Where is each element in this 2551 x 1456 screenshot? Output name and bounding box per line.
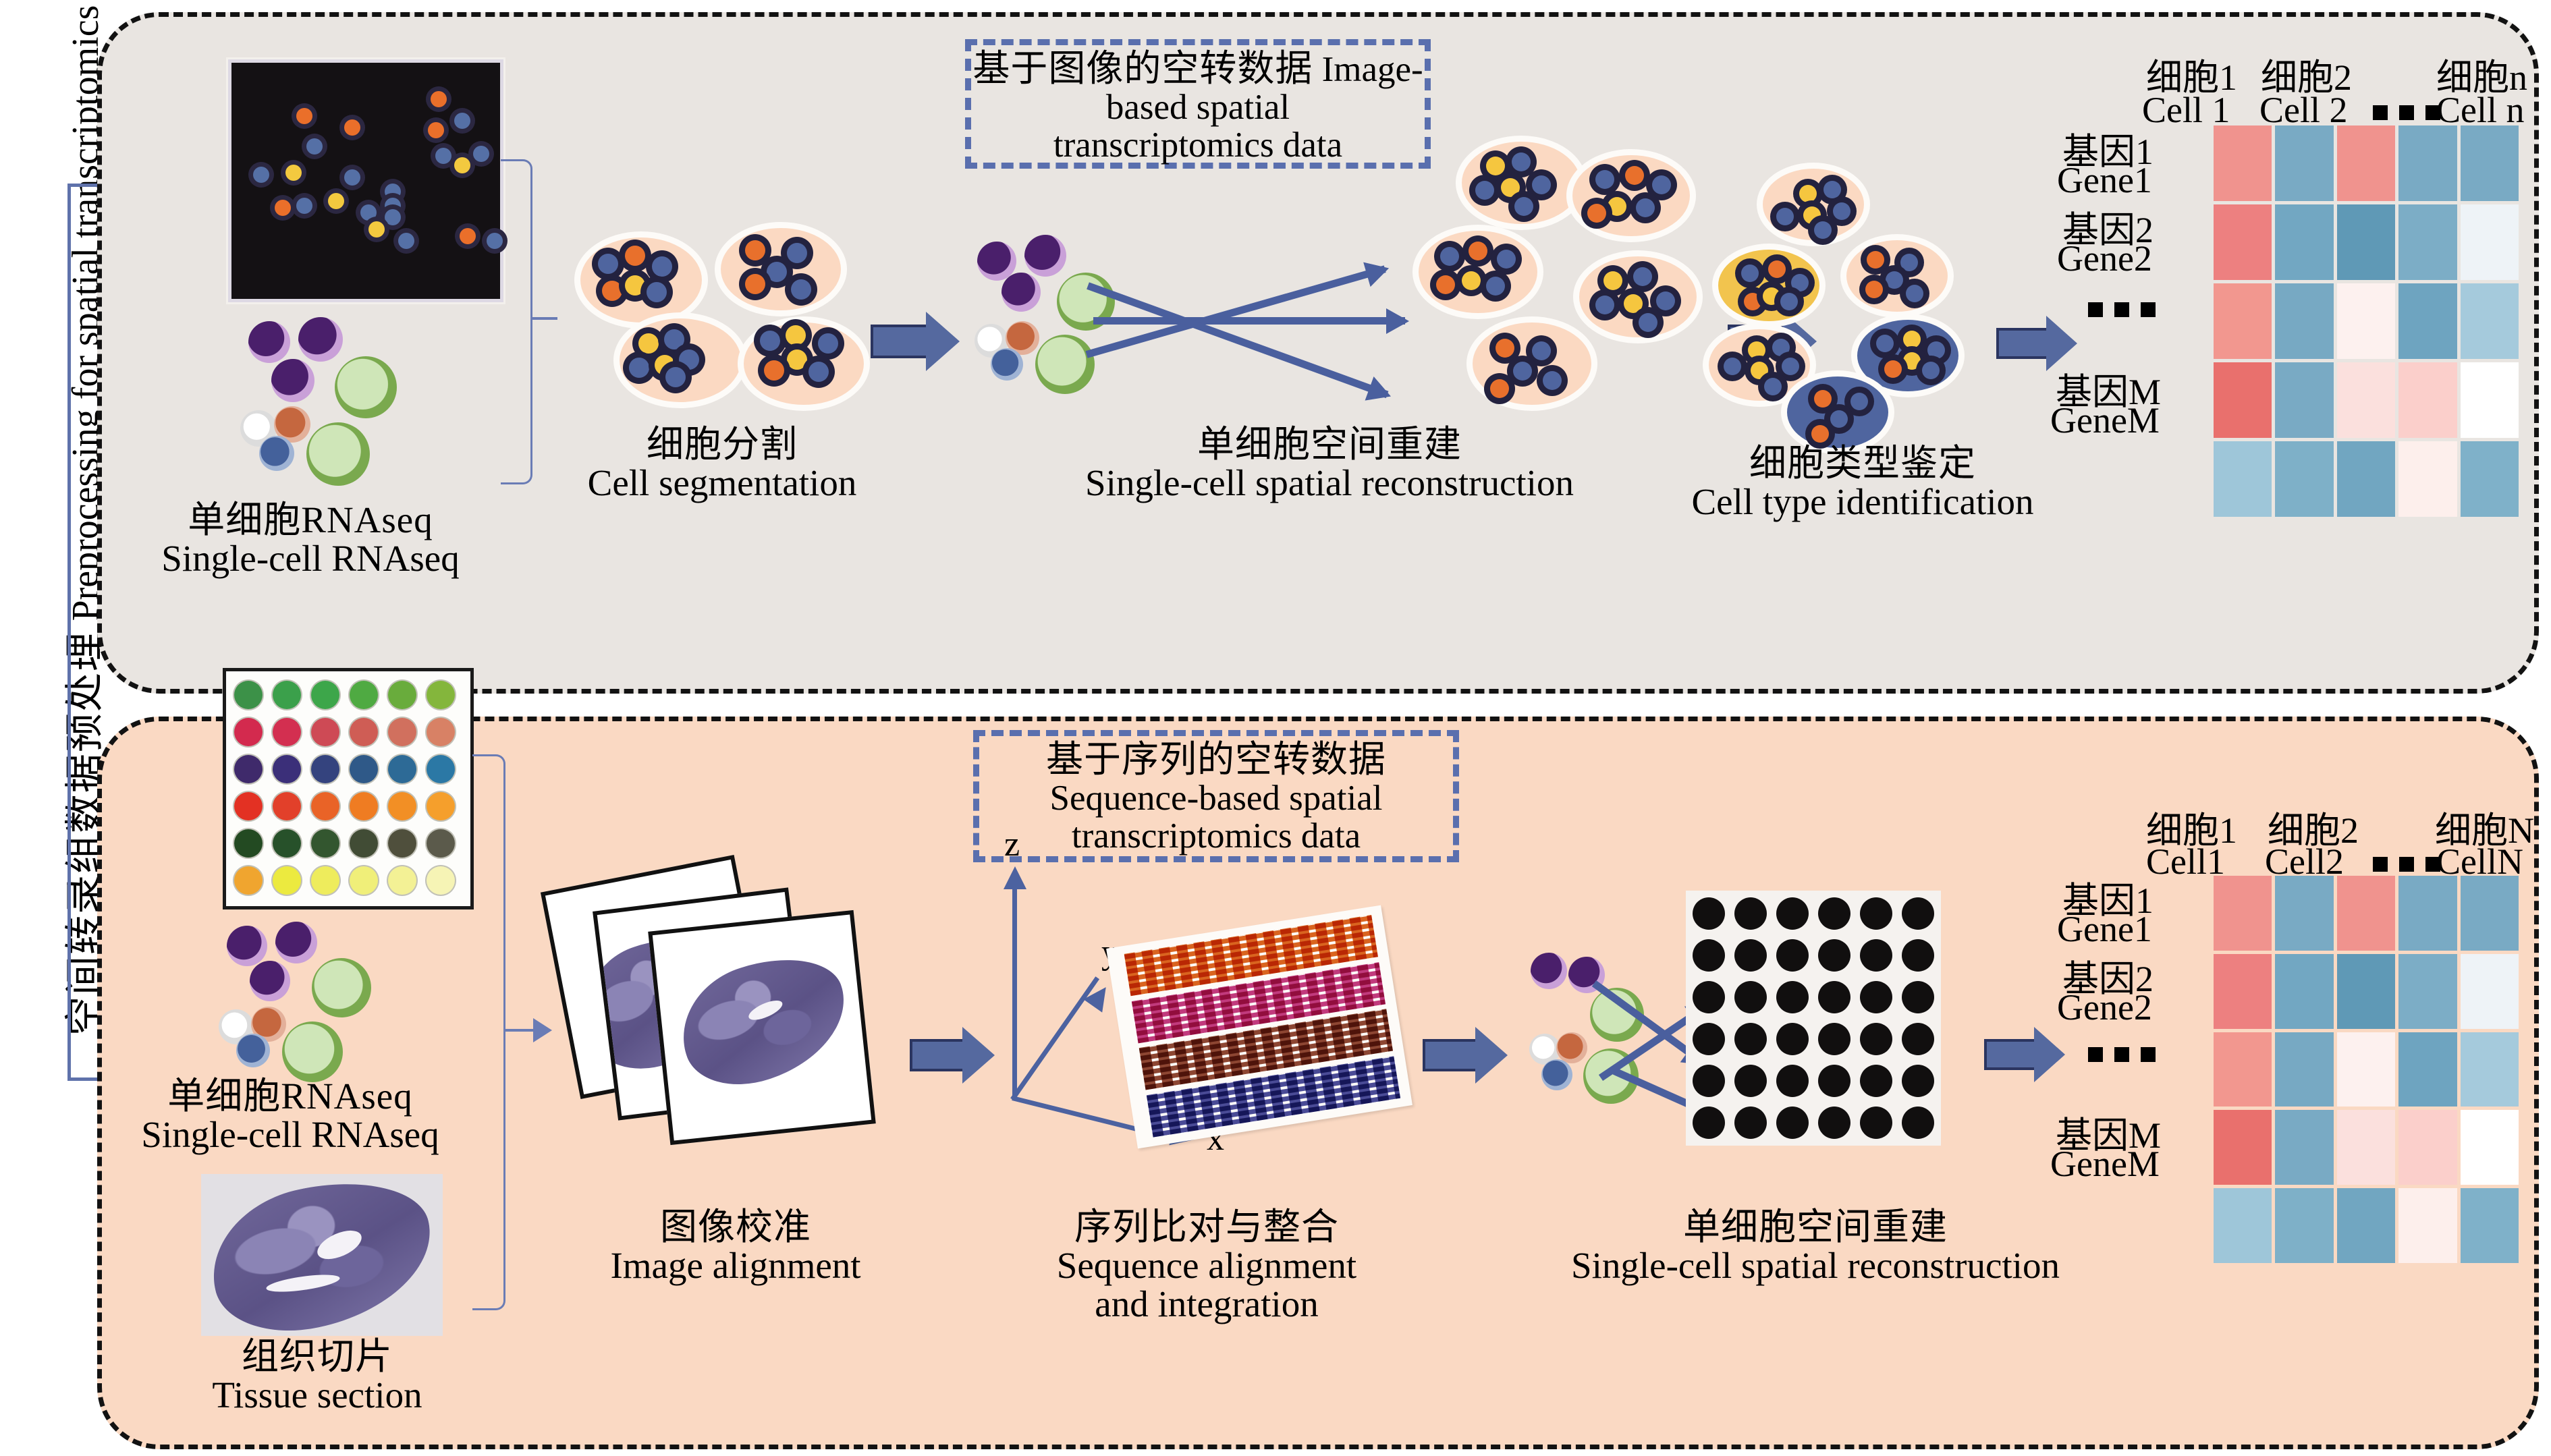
heatmap-bottom-cell-3-1 xyxy=(2275,1110,2333,1185)
capture-spot xyxy=(1776,1023,1809,1055)
capture-spot xyxy=(1818,1065,1850,1097)
flow-arrow-bottom-2 xyxy=(1423,1027,1508,1084)
fluorescence-dot xyxy=(344,119,360,136)
heatmap-top-cell-1-0 xyxy=(2214,204,2272,280)
capture-spot xyxy=(1776,1065,1809,1097)
flow-arrow-top-1 xyxy=(871,312,960,371)
heatmap-bottom-cell-0-3 xyxy=(2398,876,2457,951)
heatmap-top-col-en-2: Cell n xyxy=(2436,89,2525,131)
heatmap-bottom-row-headers: 基因1 Gene1 基因2 Gene2 基因M GeneM xyxy=(2031,870,2207,1275)
heatmap-top-cell-3-3 xyxy=(2398,362,2457,438)
capture-spot xyxy=(1902,939,1934,972)
heatmap-top-cell-0-2 xyxy=(2337,125,2395,201)
step-bottom-1-en1: Sequence alignment xyxy=(997,1246,1416,1285)
capture-spot xyxy=(1693,981,1725,1013)
fluorescence-dot xyxy=(328,193,344,209)
reconstruction-arrow-mid xyxy=(1093,317,1405,325)
scrnaseq-bottom-cn: 单细胞RNAseq xyxy=(101,1077,479,1115)
heatmap-bottom-cell-3-2 xyxy=(2337,1110,2395,1185)
callout-bottom-cn: 基于序列的空转数据 xyxy=(1046,739,1386,780)
heatmap-top-cell-3-2 xyxy=(2337,362,2395,438)
heatmap-top-cell-1-2 xyxy=(2337,204,2395,280)
scrnaseq-top-en: Single-cell RNAseq xyxy=(121,539,499,578)
heatmap-top-cell-2-4 xyxy=(2461,283,2519,359)
heatmap-top-cell-4-0 xyxy=(2214,441,2272,517)
fluorescence-dot xyxy=(385,184,401,200)
fluorescence-dot xyxy=(431,91,447,107)
heatmap-top-row-en-0: Gene1 xyxy=(2057,159,2152,201)
heatmap-bottom-cell-2-1 xyxy=(2275,1032,2333,1107)
capture-spot xyxy=(1776,981,1809,1013)
heatmap-bottom-cell-1-3 xyxy=(2398,954,2457,1029)
heatmap-top-row-en-1: Gene2 xyxy=(2057,237,2152,279)
capture-spot xyxy=(1860,897,1892,930)
fluorescence-dot xyxy=(285,165,302,181)
capture-spot xyxy=(1902,1023,1934,1055)
heatmap-top-cell-3-1 xyxy=(2275,362,2333,438)
array-spot xyxy=(234,792,263,820)
heatmap-top-cell-3-0 xyxy=(2214,362,2272,438)
capture-spot xyxy=(1818,981,1850,1013)
capture-spot xyxy=(1734,1065,1767,1097)
fluorescence-dot xyxy=(428,122,444,138)
step-top-1-en: Single-cell spatial reconstruction xyxy=(965,464,1694,502)
fluorescence-dot xyxy=(473,146,489,162)
heatmap-top-cell-4-3 xyxy=(2398,441,2457,517)
heatmap-bottom-cell-2-2 xyxy=(2337,1032,2395,1107)
heatmap-top-col-en-1: Cell 2 xyxy=(2259,89,2348,131)
capture-spot xyxy=(1693,897,1725,930)
heatmap-top-cell-1-3 xyxy=(2398,204,2457,280)
step-label-cell-type-identification: 细胞类型鉴定 Cell type identification xyxy=(1640,444,2085,521)
capture-spot xyxy=(1693,1023,1725,1055)
callout-top-en2: transcriptomics data xyxy=(1053,125,1342,165)
scrnaseq-cells-bottom xyxy=(215,922,437,1077)
fluorescence-dot xyxy=(454,157,470,173)
input-group-bracket-bottom xyxy=(472,754,505,1310)
array-spot xyxy=(388,829,416,858)
array-spot xyxy=(427,792,455,820)
heatmap-top-row-ellipsis xyxy=(2088,302,2156,317)
tissue-slide-stack xyxy=(559,872,910,1175)
heatmap-bottom xyxy=(2214,876,2519,1263)
heatmap-bottom-cell-1-1 xyxy=(2275,954,2333,1029)
callout-bottom-en2: transcriptomics data xyxy=(1072,816,1361,856)
fluorescence-dot xyxy=(360,204,377,221)
heatmap-top-row-en-2: GeneM xyxy=(2050,399,2160,441)
scrnaseq-top-cn: 单细胞RNAseq xyxy=(121,501,499,539)
array-spot xyxy=(273,866,301,895)
fluorescence-dot xyxy=(306,138,323,155)
heatmap-bottom-row-ellipsis xyxy=(2088,1047,2156,1062)
array-spot xyxy=(273,681,301,709)
scrnaseq-label-bottom: 单细胞RNAseq Single-cell RNAseq xyxy=(101,1077,479,1154)
sequence-based-callout: 基于序列的空转数据 Sequence-based spatial transcr… xyxy=(973,730,1459,862)
fluorescence-dot xyxy=(344,169,360,186)
heatmap-bottom-cell-4-2 xyxy=(2337,1188,2395,1263)
capture-spot xyxy=(1860,939,1892,972)
capture-spot xyxy=(1860,981,1892,1013)
heatmap-top-cell-4-4 xyxy=(2461,441,2519,517)
array-spot xyxy=(234,718,263,746)
array-spot xyxy=(311,681,339,709)
heatmap-top-col-headers: 细胞1 细胞2 细胞n Cell 1 Cell 2 Cell n xyxy=(2146,47,2551,128)
heatmap-bottom-cell-1-4 xyxy=(2461,954,2519,1029)
capture-spot xyxy=(1734,939,1767,972)
scrnaseq-label-top: 单细胞RNAseq Single-cell RNAseq xyxy=(121,501,499,578)
callout-bottom-en1: Sequence-based spatial xyxy=(1050,779,1383,818)
heatmap-bottom-col-ellipsis xyxy=(2373,857,2440,872)
tissue-section-label: 组织切片 Tissue section xyxy=(128,1337,506,1414)
capture-spot xyxy=(1860,1107,1892,1139)
capture-spot xyxy=(1860,1065,1892,1097)
heatmap-top-cell-3-4 xyxy=(2461,362,2519,438)
heatmap-bottom-cell-4-4 xyxy=(2461,1188,2519,1263)
heatmap-bottom-cell-3-4 xyxy=(2461,1110,2519,1185)
array-spot xyxy=(234,681,263,709)
heatmap-top-cell-2-2 xyxy=(2337,283,2395,359)
step-label-sequence-alignment: 序列比对与整合 Sequence alignment and integrati… xyxy=(997,1208,1416,1324)
heatmap-top-cell-4-2 xyxy=(2337,441,2395,517)
array-spot xyxy=(234,829,263,858)
array-spot xyxy=(273,829,301,858)
tissue-en: Tissue section xyxy=(128,1376,506,1414)
step-bottom-1-en2: and integration xyxy=(997,1285,1416,1323)
fluorescence-dot xyxy=(398,233,414,249)
capture-spot xyxy=(1818,939,1850,972)
heatmap-top-cell-1-1 xyxy=(2275,204,2333,280)
capture-spot xyxy=(1734,981,1767,1013)
heatmap-bottom-cell-0-0 xyxy=(2214,876,2272,951)
step-top-2-cn: 细胞类型鉴定 xyxy=(1640,444,2085,482)
sequence-array-card xyxy=(1106,905,1412,1149)
array-spot xyxy=(427,829,455,858)
heatmap-bottom-cell-4-3 xyxy=(2398,1188,2457,1263)
capture-spot xyxy=(1860,1023,1892,1055)
step-label-spatial-reconstruction-top: 单细胞空间重建 Single-cell spatial reconstructi… xyxy=(965,425,1694,502)
array-spot xyxy=(350,866,378,895)
capture-spot xyxy=(1818,1023,1850,1055)
capture-spot xyxy=(1734,897,1767,930)
axis-label-z: z xyxy=(1004,824,1020,864)
array-spot xyxy=(427,681,455,709)
step-top-0-en: Cell segmentation xyxy=(553,464,891,502)
array-spot xyxy=(350,792,378,820)
array-spot xyxy=(234,866,263,895)
capture-spot xyxy=(1902,897,1934,930)
array-spot xyxy=(350,755,378,783)
fluorescence-dot xyxy=(385,209,401,225)
array-spot xyxy=(311,755,339,783)
array-spot xyxy=(273,718,301,746)
fluorescence-dot xyxy=(253,167,269,183)
image-based-callout: 基于图像的空转数据 Image-based spatial transcript… xyxy=(965,39,1431,169)
fluorescence-dot xyxy=(454,113,470,129)
heatmap-top-cell-0-0 xyxy=(2214,125,2272,201)
heatmap-top-cell-2-0 xyxy=(2214,283,2272,359)
heatmap-bottom-cell-4-0 xyxy=(2214,1188,2272,1263)
array-spot xyxy=(273,755,301,783)
cell-type-identification-graphic xyxy=(1674,155,1998,439)
heatmap-top-cell-1-4 xyxy=(2461,204,2519,280)
input-group-bracket-top xyxy=(501,159,532,484)
heatmap-bottom-cell-0-2 xyxy=(2337,876,2395,951)
capture-spot xyxy=(1693,1065,1725,1097)
capture-spot xyxy=(1734,1107,1767,1139)
heatmap-top-cell-0-3 xyxy=(2398,125,2457,201)
tissue-section-image xyxy=(201,1174,443,1336)
cell-segmentation-graphic xyxy=(580,223,850,425)
fluorescence-dot xyxy=(296,108,312,124)
scrnaseq-bottom-en: Single-cell RNAseq xyxy=(101,1115,479,1154)
step-label-cell-segmentation: 细胞分割 Cell segmentation xyxy=(553,425,891,502)
heatmap-bottom-cell-2-4 xyxy=(2461,1032,2519,1107)
heatmap-top-cell-0-1 xyxy=(2275,125,2333,201)
step-bottom-1-cn: 序列比对与整合 xyxy=(997,1208,1416,1246)
heatmap-bottom-cell-0-1 xyxy=(2275,876,2333,951)
capture-spot xyxy=(1902,981,1934,1013)
heatmap-bottom-cell-1-2 xyxy=(2337,954,2395,1029)
capture-spot xyxy=(1693,939,1725,972)
callout-top-cn: 基于图像的空转数据 xyxy=(972,48,1313,89)
spot-array-image xyxy=(223,668,474,909)
heatmap-bottom-row-en-0: Gene1 xyxy=(2057,908,2152,950)
capture-spot xyxy=(1776,1107,1809,1139)
heatmap-bottom-row-en-2: GeneM xyxy=(2050,1143,2160,1185)
array-spot xyxy=(350,681,378,709)
side-bracket-vertical xyxy=(67,184,71,1081)
fluorescence-dot xyxy=(296,198,312,214)
heatmap-bottom-row-en-1: Gene2 xyxy=(2057,986,2152,1028)
heatmap-top-col-ellipsis xyxy=(2373,105,2440,120)
array-spot xyxy=(273,792,301,820)
array-spot xyxy=(388,718,416,746)
array-spot xyxy=(311,718,339,746)
heatmap-top-cell-4-1 xyxy=(2275,441,2333,517)
step-top-1-cn: 单细胞空间重建 xyxy=(965,425,1694,464)
bracket-stem-bottom xyxy=(503,1029,536,1032)
step-bottom-0-en: Image alignment xyxy=(560,1246,911,1285)
array-spot xyxy=(427,718,455,746)
array-spot xyxy=(427,866,455,895)
flow-arrow-bottom-1 xyxy=(910,1027,995,1084)
array-spot xyxy=(388,755,416,783)
array-spot xyxy=(311,829,339,858)
heatmap-bottom-cell-4-1 xyxy=(2275,1188,2333,1263)
array-spot xyxy=(388,866,416,895)
capture-spot xyxy=(1818,1107,1850,1139)
capture-spot xyxy=(1902,1107,1934,1139)
heatmap-bottom-cell-2-3 xyxy=(2398,1032,2457,1107)
array-spot xyxy=(427,755,455,783)
fluorescence-dot xyxy=(275,200,291,216)
tissue-cn: 组织切片 xyxy=(128,1337,506,1376)
array-spot xyxy=(388,681,416,709)
heatmap-top-row-headers: 基因1 Gene1 基因2 Gene2 基因M GeneM xyxy=(2031,121,2207,526)
fluorescence-dot xyxy=(368,221,385,237)
array-spot xyxy=(311,866,339,895)
heatmap-bottom-cell-3-3 xyxy=(2398,1110,2457,1185)
step-top-0-cn: 细胞分割 xyxy=(553,425,891,464)
heatmap-top xyxy=(2214,125,2519,517)
scrnaseq-cells-top xyxy=(236,317,466,472)
fluorescence-dot xyxy=(435,148,451,164)
heatmap-bottom-cell-1-0 xyxy=(2214,954,2272,1029)
bracket-stem-top xyxy=(530,317,557,320)
heatmap-top-cell-2-1 xyxy=(2275,283,2333,359)
capture-spot xyxy=(1818,897,1850,930)
capture-spot xyxy=(1776,897,1809,930)
capture-spot-grid xyxy=(1686,891,1941,1146)
array-spot xyxy=(234,755,263,783)
capture-spot xyxy=(1693,1107,1725,1139)
step-bottom-0-cn: 图像校准 xyxy=(560,1208,911,1246)
array-spot xyxy=(388,792,416,820)
capture-spot xyxy=(1734,1023,1767,1055)
fluorescence-dot xyxy=(460,228,476,244)
array-spot xyxy=(311,792,339,820)
step-top-2-en: Cell type identification xyxy=(1640,482,2085,521)
heatmap-top-cell-0-4 xyxy=(2461,125,2519,201)
array-spot xyxy=(350,829,378,858)
capture-spot xyxy=(1902,1065,1934,1097)
heatmap-bottom-col-headers: 细胞1 细胞2 细胞N Cell1 Cell2 CellN xyxy=(2146,800,2551,881)
heatmap-bottom-cell-2-0 xyxy=(2214,1032,2272,1107)
heatmap-top-cell-2-3 xyxy=(2398,283,2457,359)
capture-spot xyxy=(1776,939,1809,972)
heatmap-bottom-cell-3-0 xyxy=(2214,1110,2272,1185)
step-label-image-alignment: 图像校准 Image alignment xyxy=(560,1208,911,1285)
bracket-stem-arrow xyxy=(533,1018,552,1042)
heatmap-bottom-cell-0-4 xyxy=(2461,876,2519,951)
fluorescence-image xyxy=(228,59,503,302)
array-spot xyxy=(350,718,378,746)
